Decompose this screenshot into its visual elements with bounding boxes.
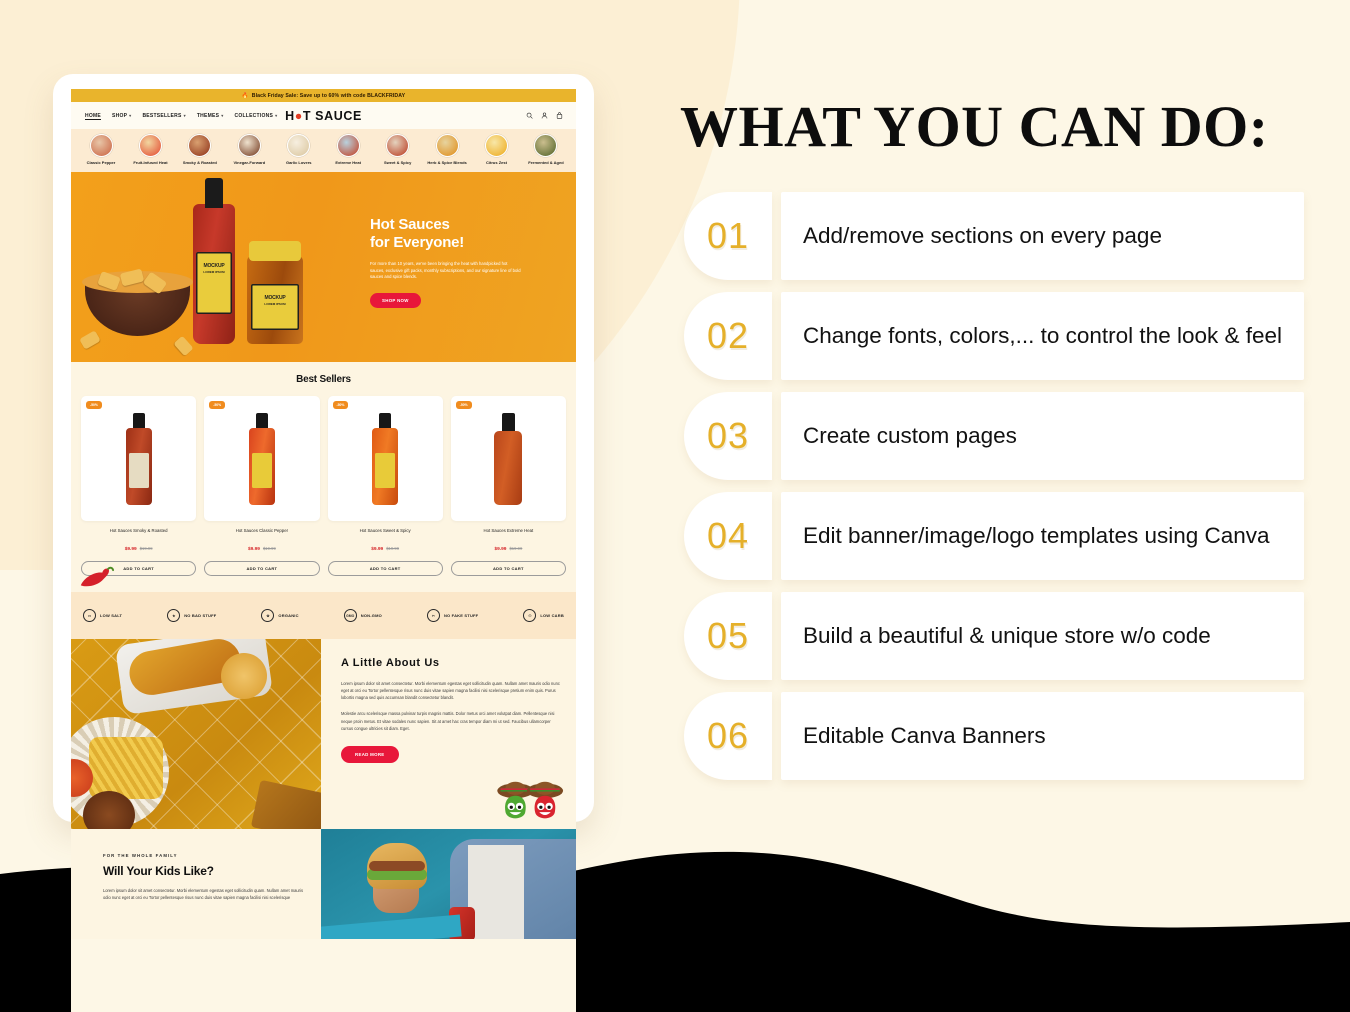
feature-row[interactable]: 02 Change fonts, colors,... to control t…	[684, 292, 1304, 380]
feature-number-badge: 01	[684, 192, 772, 280]
feature-number-badge: 02	[684, 292, 772, 380]
nav-item-home[interactable]: HOME	[85, 113, 101, 119]
feature-number-badge: 05	[684, 592, 772, 680]
category-thumb	[485, 134, 508, 157]
category-strip: Classic Pepper Fruit-Infused Heat Smoky …	[71, 129, 576, 172]
badge-organic: ✿ORGANIC	[261, 609, 298, 622]
bottle-graphic	[249, 413, 275, 505]
jar-sublabel-text: LOREM IPSUM	[251, 302, 299, 306]
badge-label: ORGANIC	[278, 613, 298, 618]
bottle-sublabel-text: LOREM IPSUM	[196, 270, 232, 274]
product-name: Hot Sauces Extreme Heat	[451, 528, 566, 533]
product-name: Hot Sauces Smoky & Roasted	[81, 528, 196, 533]
product-card[interactable]: -50% Hot Sauces Sweet & Spicy $9.99$19.9…	[328, 396, 443, 576]
product-image: -50%	[81, 396, 196, 521]
feature-card[interactable]: Add/remove sections on every page	[781, 192, 1304, 280]
badge-low-carb: ☉LOW CARB	[523, 609, 564, 622]
kids-eyebrow: FOR THE WHOLE FAMILY	[103, 853, 303, 858]
category-thumb	[534, 134, 557, 157]
feature-row[interactable]: 06 Editable Canva Banners	[684, 692, 1304, 780]
product-image: -50%	[451, 396, 566, 521]
product-price: $9.99$19.99	[81, 537, 196, 555]
category-item[interactable]: Citrus Zest	[475, 134, 519, 165]
feature-number: 05	[707, 615, 749, 657]
feature-number-badge: 04	[684, 492, 772, 580]
product-price: $9.99$19.99	[204, 537, 319, 555]
hero-title-line2: for Everyone!	[370, 234, 550, 252]
feature-number: 04	[707, 515, 749, 557]
chevron-down-icon: ▾	[275, 113, 277, 118]
category-thumb	[188, 134, 211, 157]
category-thumb	[436, 134, 459, 157]
tshirt-graphic	[468, 845, 524, 939]
price-original: $19.99	[386, 546, 399, 551]
product-price: $9.99$19.99	[451, 537, 566, 555]
kids-text-block: FOR THE WHOLE FAMILY Will Your Kids Like…	[71, 829, 321, 939]
category-label: Extreme Heat	[326, 160, 370, 165]
account-icon[interactable]	[541, 112, 548, 119]
product-card[interactable]: -50% Hot Sauces Smoky & Roasted $9.99$19…	[81, 396, 196, 576]
category-label: Herb & Spice Blends	[425, 160, 469, 165]
price-current: $9.99	[371, 547, 383, 552]
feature-card[interactable]: Create custom pages	[781, 392, 1304, 480]
price-original: $19.99	[509, 546, 522, 551]
category-item[interactable]: Herb & Spice Blends	[425, 134, 469, 165]
kids-title: Will Your Kids Like?	[103, 864, 303, 878]
add-to-cart-button[interactable]: ADD TO CART	[328, 561, 443, 576]
cart-icon[interactable]	[556, 112, 563, 119]
napkin-graphic	[251, 780, 321, 829]
nav-links: HOME SHOP▾ BESTSELLERS▾ THEMES▾ COLLECTI…	[85, 113, 277, 119]
sauce-cup-graphic	[221, 653, 267, 699]
product-image: -50%	[204, 396, 319, 521]
hero-bottle-image: MOCKUP LOREM IPSUM	[193, 204, 235, 344]
feature-badges-strip: ▭LOW SALT ★NO BAD STUFF ✿ORGANIC GMONON-…	[71, 592, 576, 639]
feature-number-badge: 03	[684, 392, 772, 480]
about-title: A Little About Us	[341, 657, 560, 669]
bottle-label: MOCKUP LOREM IPSUM	[196, 252, 232, 314]
badge-label: LOW SALT	[100, 613, 122, 618]
read-more-button[interactable]: READ MORE	[341, 746, 399, 763]
feature-number: 01	[707, 215, 749, 257]
shop-now-button[interactable]: SHOP NOW	[370, 293, 421, 308]
hero-paragraph: For more than 10 years, we've been bring…	[370, 261, 522, 281]
category-thumb	[139, 134, 162, 157]
discount-badge: -50%	[333, 401, 349, 409]
announcement-bar[interactable]: 🔥 Black Friday Sale: Save up to 60% with…	[71, 89, 576, 102]
badge-label: LOW CARB	[540, 613, 564, 618]
nav-item-bestsellers[interactable]: BESTSELLERS▾	[142, 113, 185, 119]
search-icon[interactable]	[526, 112, 533, 119]
product-name: Hot Sauces Sweet & Spicy	[328, 528, 443, 533]
feature-text: Add/remove sections on every page	[803, 221, 1162, 251]
badge-no-fake-stuff: ✂NO FAKE STUFF	[427, 609, 478, 622]
badge-no-bad-stuff: ★NO BAD STUFF	[167, 609, 216, 622]
feature-card[interactable]: Edit banner/image/logo templates using C…	[781, 492, 1304, 580]
bottle-graphic	[372, 413, 398, 505]
about-section: A Little About Us Lorem ipsum dolor sit …	[71, 639, 576, 829]
category-label: Citrus Zest	[475, 160, 519, 165]
hero-banner: MOCKUP LOREM IPSUM MOCKUP LOREM IPSUM Ho…	[71, 172, 576, 362]
price-current: $9.99	[248, 547, 260, 552]
hero-title: Hot Sauces for Everyone!	[370, 216, 550, 251]
low-salt-icon: ▭	[83, 609, 96, 622]
hero-content: Hot Sauces for Everyone! For more than 1…	[370, 216, 550, 308]
no-bad-stuff-icon: ★	[167, 609, 180, 622]
badge-label: NON-GMO	[361, 613, 382, 618]
about-paragraph-1: Lorem ipsum dolor sit amet consectetur. …	[341, 680, 560, 701]
badge-label: NO FAKE STUFF	[444, 613, 478, 618]
bottle-graphic	[126, 413, 152, 505]
chevron-down-icon: ▾	[129, 113, 131, 118]
feature-row[interactable]: 05 Build a beautiful & unique store w/o …	[684, 592, 1304, 680]
chip-decoration	[79, 330, 101, 349]
category-label: Smoky & Roasted	[178, 160, 222, 165]
nav-item-themes[interactable]: THEMES▾	[197, 113, 224, 119]
flame-logo-icon: ●	[295, 109, 303, 123]
category-item[interactable]: Smoky & Roasted	[178, 134, 222, 165]
chips-bowl-image	[85, 280, 190, 336]
bottle-label-text: MOCKUP	[196, 252, 232, 269]
best-sellers-title: Best Sellers	[81, 374, 566, 385]
organic-icon: ✿	[261, 609, 274, 622]
category-item[interactable]: Fruit-Infused Heat	[128, 134, 172, 165]
feature-number: 03	[707, 415, 749, 457]
category-label: Fermented & Aged	[524, 160, 568, 165]
kids-paragraph: Lorem ipsum dolor sit amet consectetur. …	[103, 887, 303, 901]
product-grid: -50% Hot Sauces Smoky & Roasted $9.99$19…	[81, 396, 566, 576]
store-preview-screen: 🔥 Black Friday Sale: Save up to 60% with…	[71, 89, 576, 1012]
kids-section: FOR THE WHOLE FAMILY Will Your Kids Like…	[71, 829, 576, 939]
about-text-block: A Little About Us Lorem ipsum dolor sit …	[321, 639, 576, 829]
category-thumb	[90, 134, 113, 157]
feature-text: Build a beautiful & unique store w/o cod…	[803, 621, 1211, 651]
feature-text: Create custom pages	[803, 421, 1017, 451]
product-image: -50%	[328, 396, 443, 521]
category-label: Sweet & Spicy	[376, 160, 420, 165]
product-name: Hot Sauces Classic Pepper	[204, 528, 319, 533]
category-item[interactable]: Garlic Lovers	[277, 134, 321, 165]
add-to-cart-button[interactable]: ADD TO CART	[204, 561, 319, 576]
announcement-text: Black Friday Sale: Save up to 60% with c…	[252, 93, 405, 99]
feature-card[interactable]: Build a beautiful & unique store w/o cod…	[781, 592, 1304, 680]
price-current: $9.99	[125, 547, 137, 552]
nav-icon-group	[526, 112, 563, 119]
product-card[interactable]: -50% Hot Sauces Extreme Heat $9.99$19.99…	[451, 396, 566, 576]
nav-item-shop[interactable]: SHOP▾	[112, 113, 131, 119]
nav-item-collections[interactable]: COLLECTIONS▾	[234, 113, 277, 119]
category-label: Garlic Lovers	[277, 160, 321, 165]
badge-low-salt: ▭LOW SALT	[83, 609, 122, 622]
feature-text: Editable Canva Banners	[803, 721, 1046, 751]
feature-row[interactable]: 04 Edit banner/image/logo templates usin…	[684, 492, 1304, 580]
badge-non-gmo: GMONON-GMO	[344, 609, 382, 622]
category-label: Fruit-Infused Heat	[128, 160, 172, 165]
category-label: Vinegar-Forward	[227, 160, 271, 165]
no-fake-stuff-icon: ✂	[427, 609, 440, 622]
chevron-down-icon: ▾	[221, 113, 223, 118]
page-title: WHAT YOU CAN DO:	[680, 93, 1269, 160]
category-item[interactable]: Vinegar-Forward	[227, 134, 271, 165]
feature-text: Change fonts, colors,... to control the …	[803, 321, 1282, 351]
chevron-down-icon: ▾	[184, 113, 186, 118]
category-item[interactable]: Sweet & Spicy	[376, 134, 420, 165]
product-price: $9.99$19.99	[328, 537, 443, 555]
table-graphic	[321, 915, 462, 939]
low-carb-icon: ☉	[523, 609, 536, 622]
category-label: Classic Pepper	[79, 160, 123, 165]
about-food-photo	[71, 639, 321, 829]
category-thumb	[386, 134, 409, 157]
feature-text: Edit banner/image/logo templates using C…	[803, 521, 1270, 551]
product-card[interactable]: -50% Hot Sauces Classic Pepper $9.99$19.…	[204, 396, 319, 576]
chip-decoration	[173, 336, 193, 357]
feature-number-badge: 06	[684, 692, 772, 780]
best-sellers-section: Best Sellers -50% Hot Sauces Smoky & Roa…	[71, 362, 576, 592]
price-original: $19.99	[140, 546, 153, 551]
hero-title-line1: Hot Sauces	[370, 216, 550, 234]
feature-row[interactable]: 03 Create custom pages	[684, 392, 1304, 480]
feature-list: 01 Add/remove sections on every page 02 …	[684, 192, 1304, 792]
price-current: $9.99	[494, 547, 506, 552]
right-panel: WHAT YOU CAN DO: 01 Add/remove sections …	[660, 0, 1350, 1012]
fries-graphic	[89, 737, 163, 799]
category-item[interactable]: Classic Pepper	[79, 134, 123, 165]
patty-graphic	[369, 861, 425, 871]
non-gmo-icon: GMO	[344, 609, 357, 622]
discount-badge: -50%	[456, 401, 472, 409]
feature-card[interactable]: Change fonts, colors,... to control the …	[781, 292, 1304, 380]
category-item[interactable]: Fermented & Aged	[524, 134, 568, 165]
hero-jar-image: MOCKUP LOREM IPSUM	[247, 256, 303, 344]
jar-label: MOCKUP LOREM IPSUM	[251, 284, 299, 330]
category-thumb	[287, 134, 310, 157]
category-item[interactable]: Extreme Heat	[326, 134, 370, 165]
store-navbar: HOME SHOP▾ BESTSELLERS▾ THEMES▾ COLLECTI…	[71, 102, 576, 129]
price-original: $19.99	[263, 546, 276, 551]
flame-icon: 🔥	[242, 93, 249, 99]
badge-label: NO BAD STUFF	[184, 613, 216, 618]
jar-label-text: MOCKUP	[251, 284, 299, 301]
chili-pepper-icon	[77, 566, 115, 592]
category-thumb	[337, 134, 360, 157]
discount-badge: -50%	[209, 401, 225, 409]
add-to-cart-button[interactable]: ADD TO CART	[451, 561, 566, 576]
feature-card[interactable]: Editable Canva Banners	[781, 692, 1304, 780]
feature-number: 06	[707, 715, 749, 757]
kids-photo	[321, 829, 576, 939]
bottle-graphic	[494, 413, 522, 505]
feature-number: 02	[707, 315, 749, 357]
category-thumb	[238, 134, 261, 157]
pepper-mascots-icon	[494, 773, 568, 825]
about-paragraph-2: Molestie arcu scelerisque massa pulvinar…	[341, 710, 560, 731]
feature-row[interactable]: 01 Add/remove sections on every page	[684, 192, 1304, 280]
discount-badge: -50%	[86, 401, 102, 409]
